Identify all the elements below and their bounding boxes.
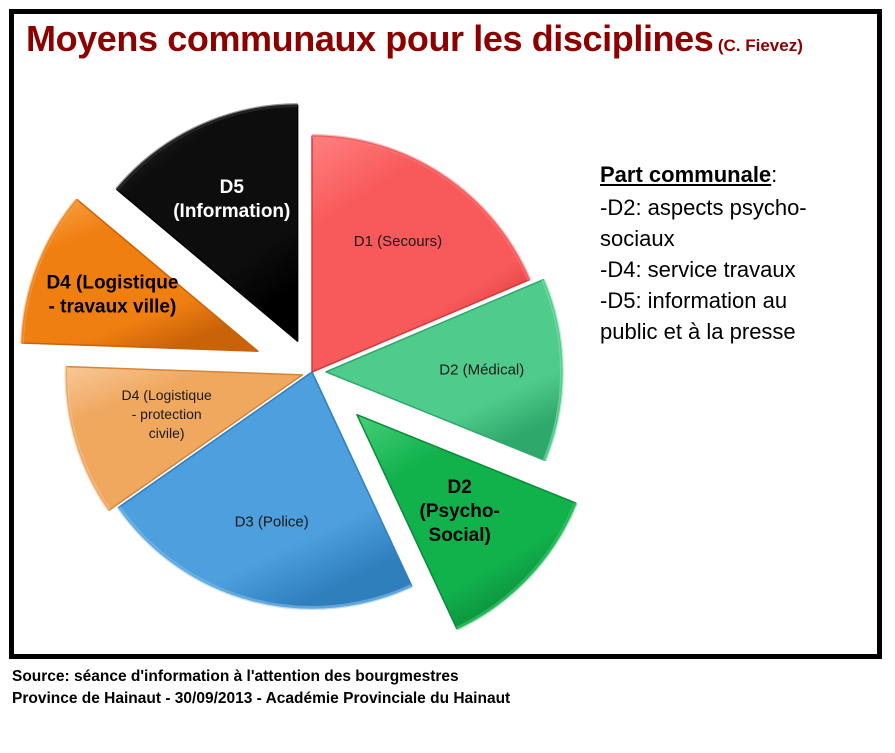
annotation-panel: Part communale: -D2: aspects psycho- soc… [600, 160, 870, 347]
annotation-line-3: -D5: information au [600, 285, 870, 316]
annotation-line-1: sociaux [600, 223, 870, 254]
page-title-main: Moyens communaux pour les disciplines [26, 18, 713, 59]
pie-chart: D1 (Secours)D2 (Médical)D2(Psycho-Social… [20, 95, 600, 655]
source-line-2: Province de Hainaut - 30/09/2013 - Acadé… [12, 688, 872, 710]
source-footer: Source: séance d'information à l'attenti… [12, 666, 872, 710]
annotation-line-0: -D2: aspects psycho- [600, 192, 870, 223]
annotation-line-4: public et à la presse [600, 316, 870, 347]
annotation-heading-colon: : [771, 162, 777, 187]
annotation-heading-label: Part communale [600, 162, 771, 187]
page-title: Moyens communaux pour les disciplines (C… [26, 18, 856, 60]
slide-root: Moyens communaux pour les disciplines (C… [0, 0, 895, 753]
annotation-heading: Part communale: [600, 160, 870, 190]
annotation-line-2: -D4: service travaux [600, 254, 870, 285]
page-title-author: (C. Fievez) [718, 36, 803, 55]
pie-chart-svg: D1 (Secours)D2 (Médical)D2(Psycho-Social… [20, 95, 600, 655]
source-line-1: Source: séance d'information à l'attenti… [12, 666, 872, 688]
